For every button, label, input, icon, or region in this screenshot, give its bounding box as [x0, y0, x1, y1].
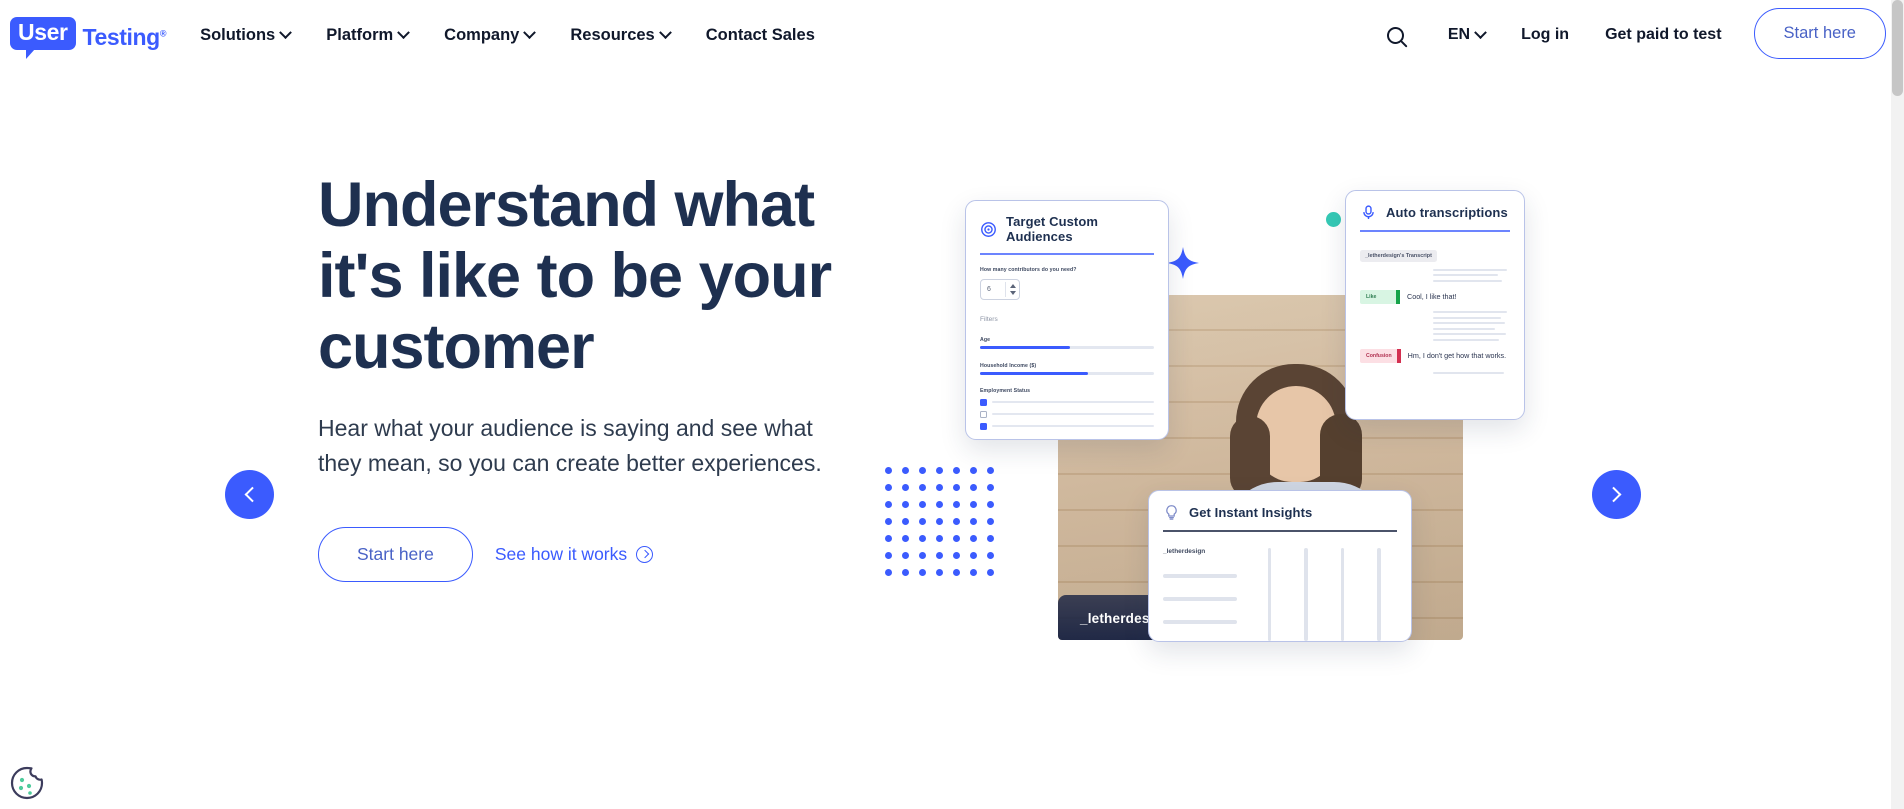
chevron-down-icon [523, 26, 536, 39]
nav-right-cluster: EN Log in Get paid to test Start here [1376, 10, 1904, 61]
nav-item-contact-sales[interactable]: Contact Sales [688, 18, 833, 53]
transcript-entry-confusion: Confusion Hm, I don't get how that works… [1360, 349, 1510, 363]
decorative-dot-teal-2 [1326, 212, 1341, 227]
checkbox-checked-icon[interactable] [980, 423, 987, 430]
stepper-down-icon[interactable] [1010, 291, 1016, 295]
contributors-stepper-value: 6 [987, 286, 991, 293]
cookie-preferences-button[interactable] [6, 762, 46, 802]
language-selector-label: EN [1448, 26, 1470, 44]
search-icon [1387, 27, 1404, 44]
insights-placeholder-bar [1163, 574, 1237, 578]
stepper-divider [1005, 282, 1006, 297]
hero-cta-group: Start here See how it works [318, 527, 938, 582]
checkbox-unchecked-icon[interactable] [980, 411, 987, 418]
nav-item-company[interactable]: Company [426, 18, 552, 53]
transcript-placeholder-lines [1433, 269, 1510, 282]
nav-start-here-button[interactable]: Start here [1754, 8, 1886, 59]
logo-bubble: User [10, 17, 76, 50]
hero-carousel-section: Understand what it's like to be your cus… [0, 70, 1904, 809]
login-link[interactable]: Log in [1503, 18, 1587, 52]
filter-age-label: Age [980, 337, 1154, 343]
insights-participant-name: _letherdesign [1163, 548, 1237, 555]
card-header: Get Instant Insights [1163, 504, 1397, 530]
see-how-it-works-label: See how it works [495, 544, 627, 565]
insights-columns [1251, 548, 1397, 641]
employment-option-row[interactable] [980, 411, 1154, 418]
nav-item-solutions-label: Solutions [200, 26, 275, 45]
language-selector[interactable]: EN [1430, 18, 1503, 52]
nav-item-resources[interactable]: Resources [552, 18, 687, 53]
get-paid-to-test-label: Get paid to test [1605, 26, 1721, 44]
card-title: Auto transcriptions [1386, 205, 1508, 220]
contributors-stepper[interactable]: 6 [980, 279, 1020, 300]
employment-option-row[interactable] [980, 399, 1154, 406]
insights-column [1304, 548, 1308, 641]
get-paid-to-test-link[interactable]: Get paid to test [1587, 18, 1739, 52]
nav-item-solutions[interactable]: Solutions [182, 18, 308, 53]
carousel-next-button[interactable] [1592, 470, 1641, 519]
microphone-icon [1360, 204, 1377, 221]
card-get-instant-insights: Get Instant Insights _letherdesign [1148, 490, 1412, 642]
card-title: Get Instant Insights [1189, 505, 1312, 520]
insights-column [1377, 548, 1381, 641]
sentiment-tag-like: Like [1360, 290, 1400, 304]
nav-item-platform[interactable]: Platform [308, 18, 426, 53]
filter-income-label: Household Income ($) [980, 363, 1154, 369]
cookie-icon [6, 762, 46, 802]
option-placeholder-bar [992, 413, 1154, 415]
logo-user-text: User [18, 19, 68, 45]
nav-item-company-label: Company [444, 26, 519, 45]
insights-column [1268, 548, 1272, 641]
top-navigation-bar: User Testing® Solutions Platform Company… [0, 0, 1904, 70]
chevron-down-icon [397, 26, 410, 39]
search-button[interactable] [1376, 15, 1416, 55]
hero-headline-line-2: it's like to be your [318, 241, 938, 312]
hero-copy-block: Understand what it's like to be your cus… [318, 170, 938, 582]
chevron-down-icon [279, 26, 292, 39]
chevron-left-icon [245, 487, 261, 503]
transcript-entry-like: Like Cool, I like that! [1360, 290, 1510, 304]
filter-age-slider[interactable] [980, 346, 1154, 349]
decorative-star-large-icon [1166, 246, 1200, 280]
hero-headline-line-1: Understand what [318, 170, 938, 241]
hero-subheadline: Hear what your audience is saying and se… [318, 411, 918, 481]
transcript-quote-confusion: Hm, I don't get how that works. [1408, 351, 1506, 361]
transcript-owner-chip: _letherdesign's Transcript [1360, 250, 1437, 262]
hero-headline: Understand what it's like to be your cus… [318, 170, 938, 383]
card-target-custom-audiences: Target Custom Audiences How many contrib… [965, 200, 1169, 440]
card-divider [980, 253, 1154, 255]
insights-column [1341, 548, 1345, 641]
stepper-up-icon[interactable] [1010, 284, 1016, 288]
registered-mark-icon: ® [160, 28, 166, 38]
card-header: Auto transcriptions [1360, 204, 1510, 230]
chevron-down-icon [1474, 26, 1487, 39]
primary-nav-links: Solutions Platform Company Resources Con… [182, 18, 833, 53]
option-placeholder-bar [992, 425, 1154, 427]
hero-subheadline-line-1: Hear what your audience is saying and se… [318, 411, 918, 446]
insights-placeholder-bar [1163, 620, 1237, 624]
card-divider [1163, 530, 1397, 532]
transcript-placeholder-lines [1433, 372, 1510, 374]
card-auto-transcriptions: Auto transcriptions _letherdesign's Tran… [1345, 190, 1525, 420]
logo-testing-text: Testing® [83, 26, 167, 49]
carousel-prev-button[interactable] [225, 470, 274, 519]
insights-placeholder-bar [1163, 597, 1237, 601]
lightbulb-icon [1163, 504, 1180, 521]
target-icon [980, 221, 997, 238]
insights-legend: _letherdesign [1163, 548, 1237, 641]
page-scrollbar-track[interactable] [1891, 0, 1904, 809]
nav-item-contact-sales-label: Contact Sales [706, 26, 815, 45]
insights-chart-area: _letherdesign [1163, 544, 1397, 641]
chevron-right-icon [1606, 487, 1622, 503]
filter-income-slider[interactable] [980, 372, 1154, 375]
card-divider [1360, 230, 1510, 232]
decorative-dot-grid [885, 462, 1004, 581]
nav-item-resources-label: Resources [570, 26, 654, 45]
hero-headline-line-3: customer [318, 312, 938, 383]
audience-question-label: How many contributors do you need? [980, 267, 1154, 273]
card-header: Target Custom Audiences [980, 214, 1154, 253]
sentiment-tag-confusion: Confusion [1360, 349, 1401, 363]
employment-option-row[interactable] [980, 423, 1154, 430]
hero-start-here-button[interactable]: Start here [318, 527, 473, 582]
filter-employment-label: Employment Status [980, 388, 1154, 394]
option-placeholder-bar [992, 401, 1154, 403]
checkbox-checked-icon[interactable] [980, 399, 987, 406]
hero-illustration: _letherdesign | Age: 2 Target Custom Au [940, 190, 1580, 670]
transcript-quote-like: Cool, I like that! [1407, 292, 1457, 302]
transcript-placeholder-lines [1433, 311, 1510, 341]
nav-item-platform-label: Platform [326, 26, 393, 45]
chevron-down-icon [659, 26, 672, 39]
card-title: Target Custom Audiences [1006, 214, 1154, 244]
login-link-label: Log in [1521, 26, 1569, 44]
usertesting-logo[interactable]: User Testing® [10, 17, 166, 50]
see-how-it-works-link[interactable]: See how it works [495, 544, 653, 565]
hero-subheadline-line-2: they mean, so you can create better expe… [318, 446, 918, 481]
filters-label: Filters [980, 316, 1154, 323]
page-scrollbar-thumb[interactable] [1892, 0, 1903, 96]
chevron-right-circle-icon [636, 546, 653, 563]
